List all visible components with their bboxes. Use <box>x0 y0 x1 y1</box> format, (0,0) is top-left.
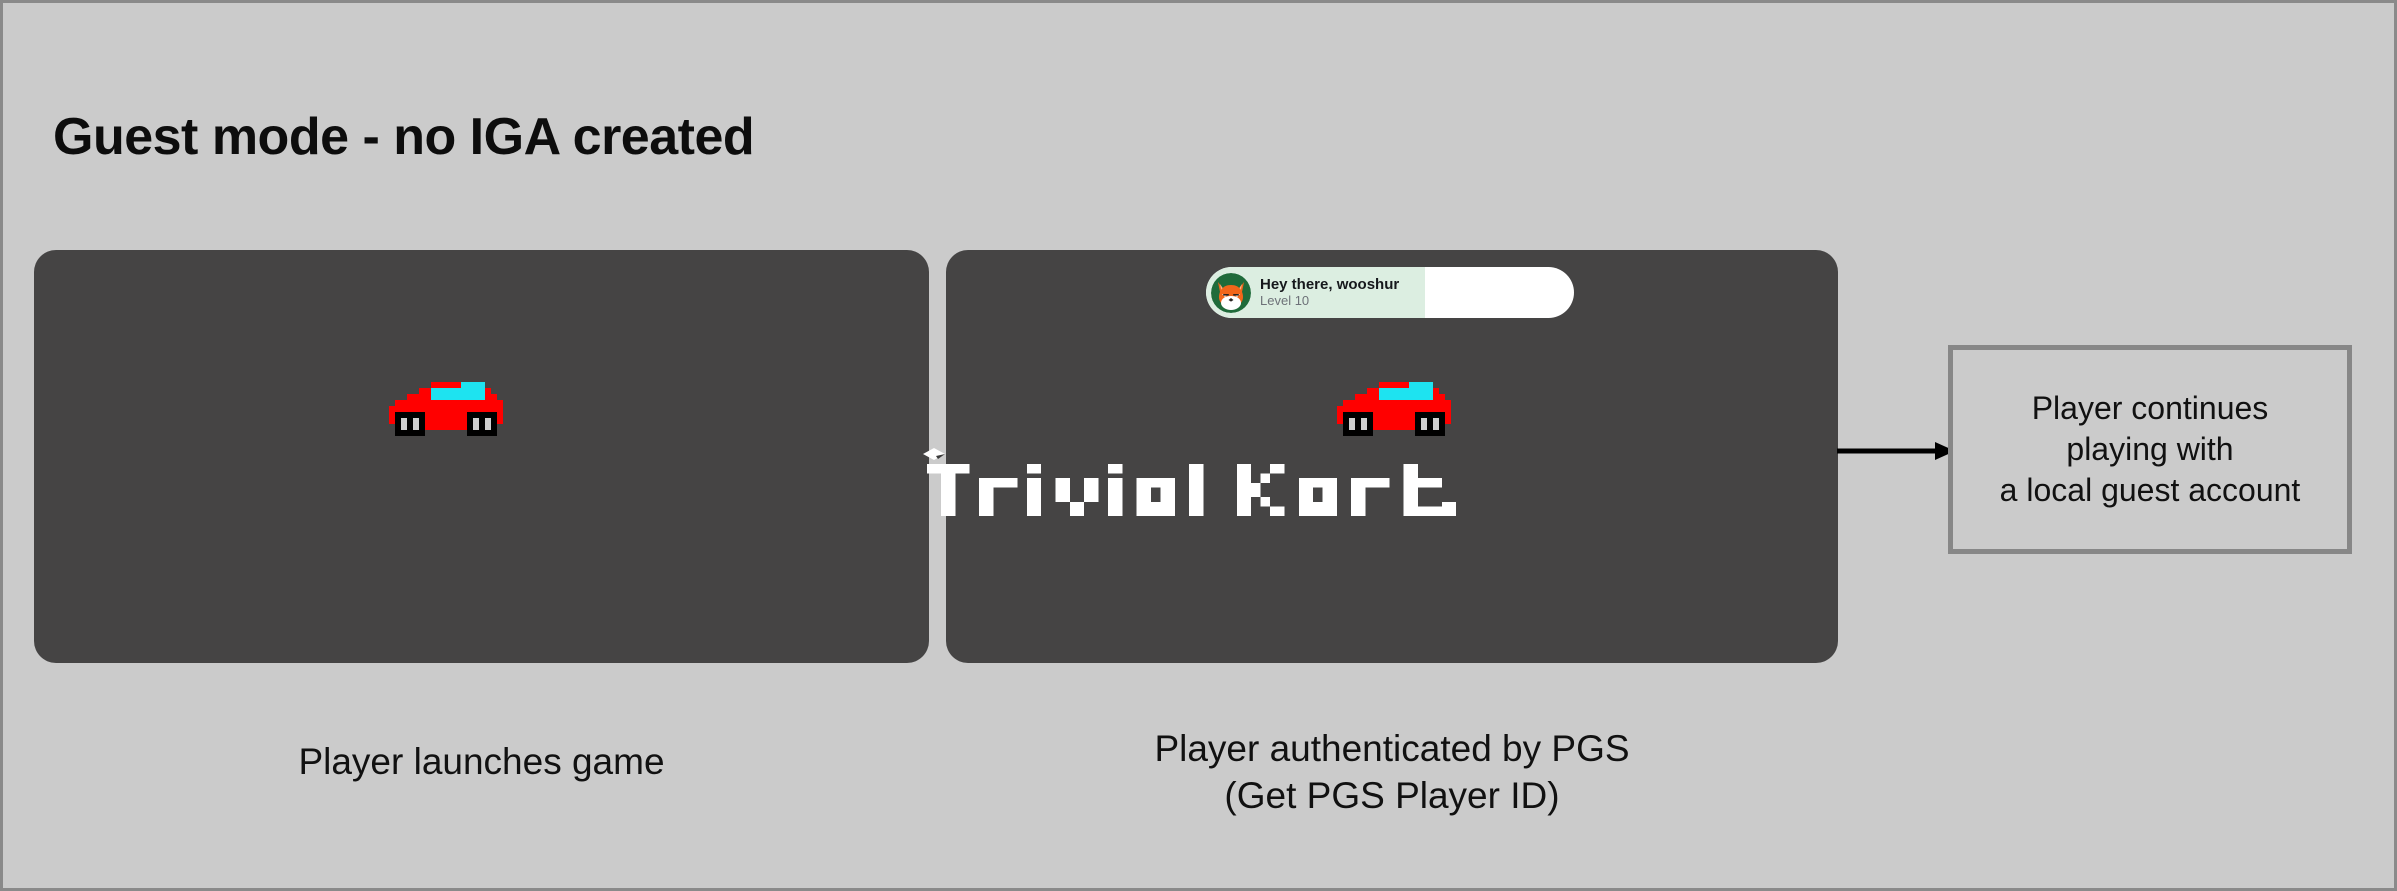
right-arrow-icon <box>1837 438 1957 464</box>
notification-greeting: Hey there, wooshur <box>1260 276 1399 293</box>
pixel-car-icon <box>377 376 509 436</box>
pgs-sign-in-notification[interactable]: Hey there, wooshur Level 10 <box>1206 267 1574 318</box>
notification-profile-section: Hey there, wooshur Level 10 <box>1206 267 1425 318</box>
pixel-car-icon <box>1325 376 1457 436</box>
game-panel-launch <box>34 250 929 663</box>
page-title: Guest mode - no IGA created <box>53 107 754 167</box>
outcome-box: Player continues playing with a local gu… <box>1948 345 2352 554</box>
notification-level: Level 10 <box>1260 293 1399 309</box>
outcome-text: Player continues playing with a local gu… <box>2000 388 2301 511</box>
notification-text-block: Hey there, wooshur Level 10 <box>1260 276 1399 310</box>
diagram-canvas: Guest mode - no IGA created <box>0 0 2397 891</box>
caption-player-launches-game: Player launches game <box>34 738 929 785</box>
fox-avatar-icon <box>1211 273 1251 313</box>
caption-player-authenticated: Player authenticated by PGS (Get PGS Pla… <box>946 725 1838 820</box>
